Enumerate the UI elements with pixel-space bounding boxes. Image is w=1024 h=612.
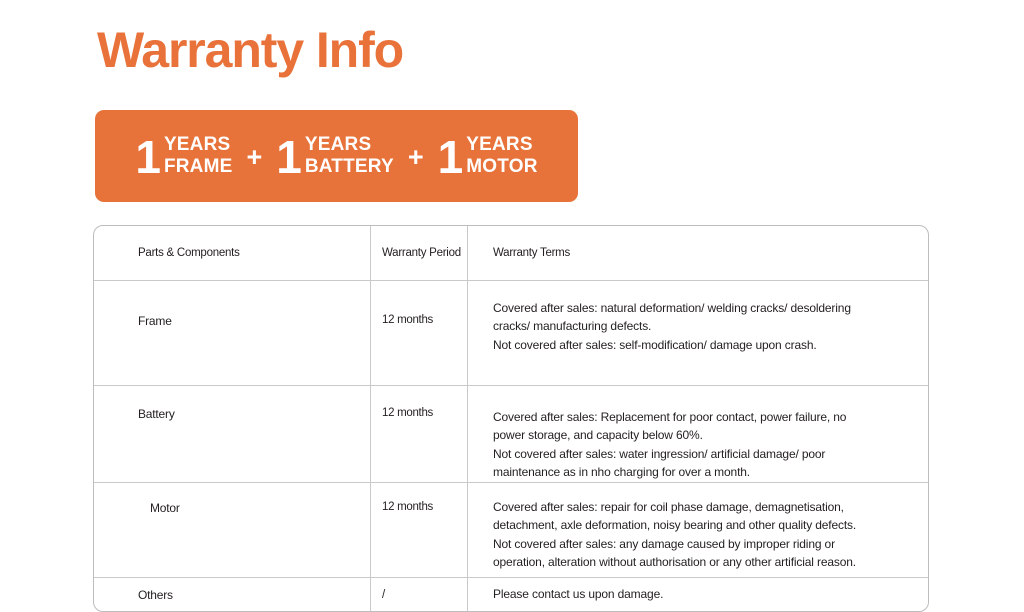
table-row: Frame 12 months Covered after sales: nat… <box>94 281 928 386</box>
row-part-label: Battery <box>138 407 175 421</box>
row-terms-cell: Covered after sales: repair for coil pha… <box>468 483 928 577</box>
header-cell-period: Warranty Period <box>371 226 468 280</box>
row-period-label: 12 months <box>382 407 433 419</box>
header-cell-parts: Parts & Components <box>94 226 371 280</box>
row-terms-cell: Covered after sales: Replacement for poo… <box>468 386 928 482</box>
warranty-badge-motor: 1 YEARS MOTOR <box>438 134 538 179</box>
badge-text-frame: YEARS FRAME <box>164 134 233 179</box>
row-terms-text: Covered after sales: natural deformation… <box>493 299 851 354</box>
warranty-badge-battery: 1 YEARS BATTERY <box>276 134 394 179</box>
plus-icon-1: + <box>247 144 263 171</box>
badge-part-motor: MOTOR <box>466 156 537 178</box>
badge-part-battery: BATTERY <box>305 156 394 178</box>
row-terms-text: Please contact us upon damage. <box>493 585 663 603</box>
badge-unit-battery: YEARS <box>305 134 394 156</box>
row-period-label: 12 months <box>382 314 433 326</box>
row-period-label: / <box>382 589 385 601</box>
row-part-cell: Battery <box>94 386 371 482</box>
table-row: Motor 12 months Covered after sales: rep… <box>94 483 928 578</box>
badge-number-frame: 1 <box>135 136 160 178</box>
table-row: Others / Please contact us upon damage. <box>94 578 928 611</box>
row-part-cell: Motor <box>94 483 371 577</box>
badge-unit-motor: YEARS <box>466 134 537 156</box>
badge-text-motor: YEARS MOTOR <box>466 134 537 179</box>
header-label-terms: Warranty Terms <box>493 247 570 259</box>
row-part-cell: Others <box>94 578 371 611</box>
badge-number-motor: 1 <box>438 136 463 178</box>
row-period-cell: 12 months <box>371 281 468 385</box>
badge-number-battery: 1 <box>276 136 301 178</box>
row-part-label: Others <box>138 588 173 602</box>
row-terms-cell: Covered after sales: natural deformation… <box>468 281 928 385</box>
table-row: Battery 12 months Covered after sales: R… <box>94 386 928 483</box>
warranty-summary-banner: 1 YEARS FRAME + 1 YEARS BATTERY + 1 YEAR… <box>95 110 578 202</box>
warranty-badge-frame: 1 YEARS FRAME <box>135 134 232 179</box>
badge-part-frame: FRAME <box>164 156 233 178</box>
row-terms-cell: Please contact us upon damage. <box>468 578 928 611</box>
header-label-parts: Parts & Components <box>138 247 240 259</box>
badge-text-battery: YEARS BATTERY <box>305 134 394 179</box>
row-period-cell: 12 months <box>371 483 468 577</box>
warranty-table: Parts & Components Warranty Period Warra… <box>93 225 929 612</box>
header-label-period: Warranty Period <box>382 247 461 259</box>
table-header-row: Parts & Components Warranty Period Warra… <box>94 226 928 281</box>
badge-unit-frame: YEARS <box>164 134 233 156</box>
row-period-label: 12 months <box>382 501 433 513</box>
row-part-label: Motor <box>150 501 180 515</box>
row-period-cell: 12 months <box>371 386 468 482</box>
row-part-cell: Frame <box>94 281 371 385</box>
page-title: Warranty Info <box>97 22 403 78</box>
header-cell-terms: Warranty Terms <box>468 226 928 280</box>
row-terms-text: Covered after sales: repair for coil pha… <box>493 498 856 571</box>
row-period-cell: / <box>371 578 468 611</box>
plus-icon-2: + <box>408 144 424 171</box>
row-part-label: Frame <box>138 314 172 328</box>
row-terms-text: Covered after sales: Replacement for poo… <box>493 408 846 481</box>
